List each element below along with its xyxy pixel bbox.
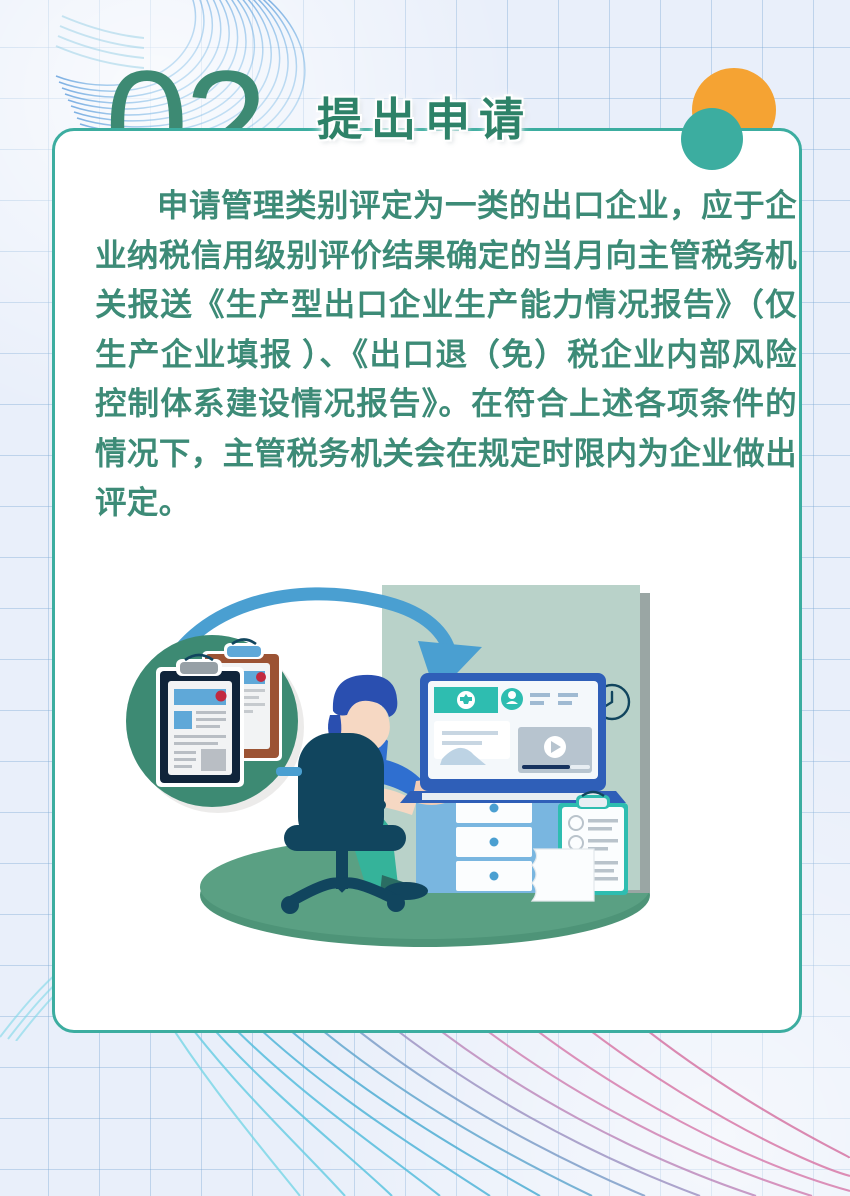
desk-drawers <box>456 793 532 891</box>
body-paragraph: 申请管理类别评定为一类的出口企业，应于企业纳税信用级别评价结果确定的当月向主管税… <box>95 181 797 528</box>
page-title-text: 提出申请 <box>313 83 537 148</box>
page-title: 提出申请 <box>0 83 850 148</box>
laptop <box>400 673 626 803</box>
illustration-office-worker <box>120 555 680 955</box>
clipboard-badge-icon <box>126 635 304 813</box>
